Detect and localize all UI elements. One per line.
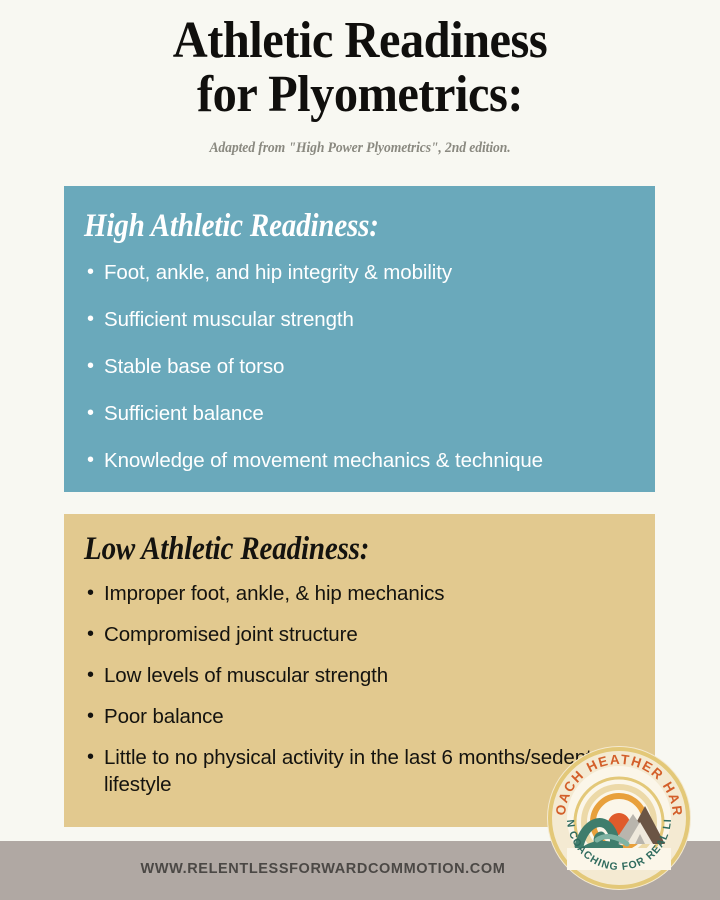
list-item: • Compromised joint structure <box>64 621 655 648</box>
list-item-label: Little to no physical activity in the la… <box>104 746 620 796</box>
coach-heather-hart-logo: COACH HEATHER HART RUN COACHING FOR REAL… <box>545 744 693 892</box>
list-item: • Sufficient balance <box>64 400 655 427</box>
list-item: • Poor balance <box>64 703 655 730</box>
list-item: • Stable base of torso <box>64 353 655 380</box>
list-item-label: Sufficient balance <box>104 402 264 425</box>
bullet-dot-icon: • <box>87 400 94 427</box>
card-heading-low: Low Athletic Readiness: <box>84 531 586 568</box>
bullet-dot-icon: • <box>87 621 94 648</box>
page-title: Athletic Readiness for Plyometrics: <box>25 14 695 122</box>
list-item-label: Foot, ankle, and hip integrity & mobilit… <box>104 261 452 284</box>
list-item: • Low levels of muscular strength <box>64 662 655 689</box>
bullet-dot-icon: • <box>87 662 94 689</box>
list-item-label: Sufficient muscular strength <box>104 308 354 331</box>
bullet-dot-icon: • <box>87 259 94 286</box>
card-high-athletic-readiness: High Athletic Readiness: • Foot, ankle, … <box>64 186 655 492</box>
bullet-dot-icon: • <box>87 353 94 380</box>
bullet-list-high: • Foot, ankle, and hip integrity & mobil… <box>64 259 655 474</box>
bullet-dot-icon: • <box>87 703 94 730</box>
list-item-label: Compromised joint structure <box>104 623 358 646</box>
bullet-dot-icon: • <box>87 447 94 474</box>
list-item: • Sufficient muscular strength <box>64 306 655 333</box>
list-item-label: Low levels of muscular strength <box>104 664 388 687</box>
list-item-label: Improper foot, ankle, & hip mechanics <box>104 582 444 605</box>
bullet-dot-icon: • <box>87 306 94 333</box>
list-item: • Improper foot, ankle, & hip mechanics <box>64 580 655 607</box>
card-heading-high: High Athletic Readiness: <box>84 208 586 245</box>
list-item: • Foot, ankle, and hip integrity & mobil… <box>64 259 655 286</box>
bullet-dot-icon: • <box>87 580 94 607</box>
bullet-dot-icon: • <box>87 744 94 771</box>
page-subtitle: Adapted from "High Power Plyometrics", 2… <box>22 140 699 157</box>
list-item-label: Poor balance <box>104 705 224 728</box>
list-item: • Knowledge of movement mechanics & tech… <box>64 447 655 474</box>
list-item-label: Stable base of torso <box>104 355 284 378</box>
list-item-label: Knowledge of movement mechanics & techni… <box>104 449 543 472</box>
infographic-poster: Athletic Readiness for Plyometrics: Adap… <box>0 0 720 900</box>
header: Athletic Readiness for Plyometrics: Adap… <box>0 0 720 157</box>
